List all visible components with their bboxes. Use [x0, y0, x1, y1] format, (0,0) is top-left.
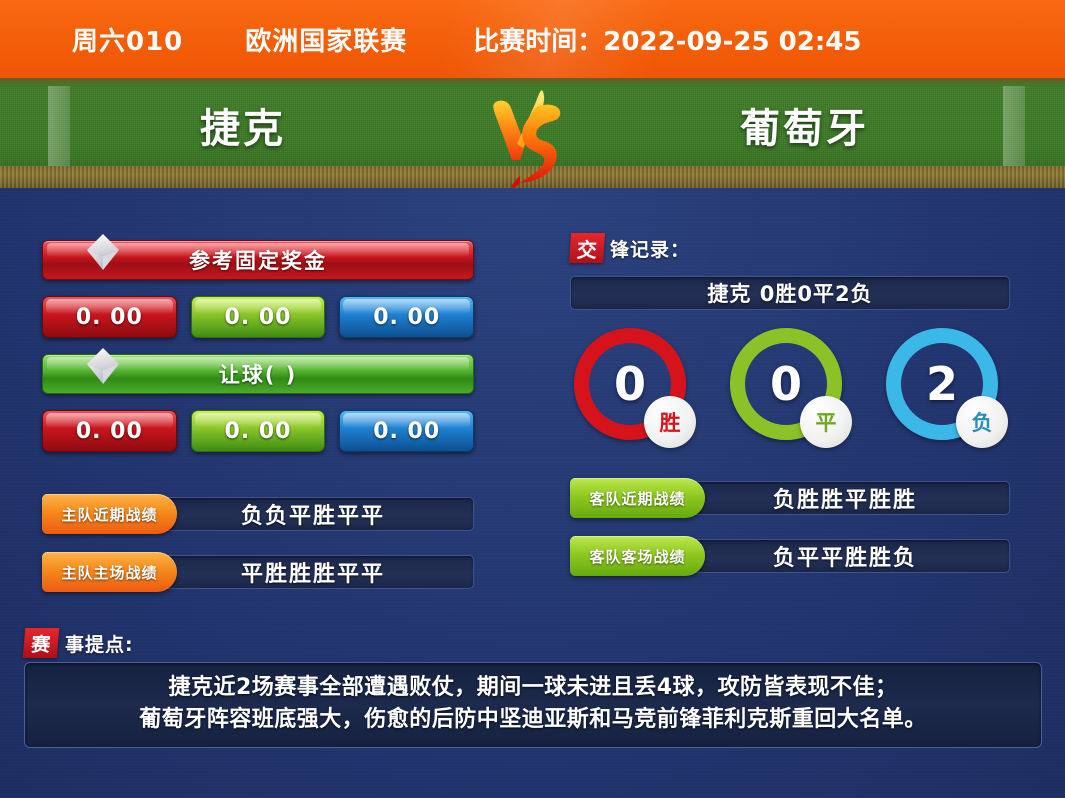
league-name-label: 欧洲国家联赛 — [245, 21, 407, 58]
away-away-form-row: 负平平胜胜负 客队客场战绩 — [570, 536, 1010, 576]
losses-label: 负 — [956, 396, 1008, 448]
away-recent-form-tag: 客队近期战绩 — [570, 478, 705, 518]
away-recent-form-row: 负胜胜平胜胜 客队近期战绩 — [570, 478, 1010, 518]
match-round-label: 周六010 — [72, 21, 183, 58]
notes-line: 葡萄牙阵容班底强大，伤愈的后防中坚迪亚斯和马竞前锋菲利克斯重回大名单。 — [39, 704, 1027, 736]
home-recent-form-tag: 主队近期战绩 — [42, 494, 177, 534]
diamond-icon — [83, 346, 123, 386]
h2h-badge-icon: 交 — [569, 233, 605, 263]
h2h-losses-stat: 2 负 — [886, 328, 998, 440]
odds-panel: 参考固定奖金 0. 00 0. 00 0. 00 让球( ) — [42, 240, 474, 610]
notes-badge-icon: 赛 — [23, 628, 60, 658]
fixed-prize-loss-odd[interactable]: 0. 00 — [339, 296, 474, 338]
wins-label: 胜 — [644, 396, 696, 448]
away-recent-form-value: 负胜胜平胜胜 — [680, 481, 1010, 515]
home-home-form-row: 平胜胜胜平平 主队主场战绩 — [42, 552, 474, 592]
h2h-panel: 交 锋记录： 捷克 0胜0平2负 0 胜 0 平 — [570, 232, 1010, 594]
home-recent-form-row: 负负平胜平平 主队近期战绩 — [42, 494, 474, 534]
match-header-bar: 周六010 欧洲国家联赛 比赛时间：2022-09-25 02:45 — [0, 0, 1065, 78]
fixed-prize-title: 参考固定奖金 — [189, 245, 327, 275]
h2h-summary: 捷克 0胜0平2负 — [570, 276, 1010, 310]
fixed-prize-draw-odd[interactable]: 0. 00 — [191, 296, 326, 338]
handicap-win-odd[interactable]: 0. 00 — [42, 410, 177, 452]
notes-line: 捷克近2场赛事全部遭遇败仗，期间一球未进且丢4球，攻防皆表现不佳； — [39, 672, 1027, 704]
notes-title: 事提点: — [65, 630, 134, 657]
match-preview-page: 周六010 欧洲国家联赛 比赛时间：2022-09-25 02:45 捷克 葡萄… — [0, 0, 1065, 798]
notes-header: 赛 事提点: — [24, 628, 1042, 658]
h2h-header: 交 锋记录： — [570, 232, 1010, 264]
h2h-stats-group: 0 胜 0 平 2 负 — [570, 328, 1010, 440]
away-away-form-value: 负平平胜胜负 — [680, 539, 1010, 573]
handicap-draw-odd[interactable]: 0. 00 — [191, 410, 326, 452]
diamond-icon — [83, 232, 123, 272]
home-team-name: 捷克 — [200, 96, 286, 154]
draws-label: 平 — [800, 396, 852, 448]
vs-flame-icon — [476, 82, 586, 192]
away-team-name: 葡萄牙 — [740, 96, 869, 154]
fixed-prize-odds-row: 0. 00 0. 00 0. 00 — [42, 296, 474, 338]
match-notes-section: 赛 事提点: 捷克近2场赛事全部遭遇败仗，期间一球未进且丢4球，攻防皆表现不佳；… — [24, 628, 1042, 748]
handicap-loss-odd[interactable]: 0. 00 — [339, 410, 474, 452]
handicap-header: 让球( ) — [42, 354, 474, 394]
fixed-prize-win-odd[interactable]: 0. 00 — [42, 296, 177, 338]
match-time-label: 比赛时间：2022-09-25 02:45 — [473, 21, 861, 58]
away-away-form-tag: 客队客场战绩 — [570, 536, 705, 576]
notes-box: 捷克近2场赛事全部遭遇败仗，期间一球未进且丢4球，攻防皆表现不佳； 葡萄牙阵容班… — [24, 662, 1042, 748]
home-recent-form-value: 负负平胜平平 — [152, 497, 474, 531]
h2h-draws-stat: 0 平 — [730, 328, 842, 440]
match-details-body: 参考固定奖金 0. 00 0. 00 0. 00 让球( ) — [0, 188, 1065, 798]
home-home-form-value: 平胜胜胜平平 — [152, 555, 474, 589]
fixed-prize-header: 参考固定奖金 — [42, 240, 474, 280]
home-home-form-tag: 主队主场战绩 — [42, 552, 177, 592]
handicap-title: 让球( ) — [219, 359, 298, 389]
h2h-title: 锋记录： — [610, 235, 690, 262]
handicap-odds-row: 0. 00 0. 00 0. 00 — [42, 410, 474, 452]
h2h-wins-stat: 0 胜 — [574, 328, 686, 440]
